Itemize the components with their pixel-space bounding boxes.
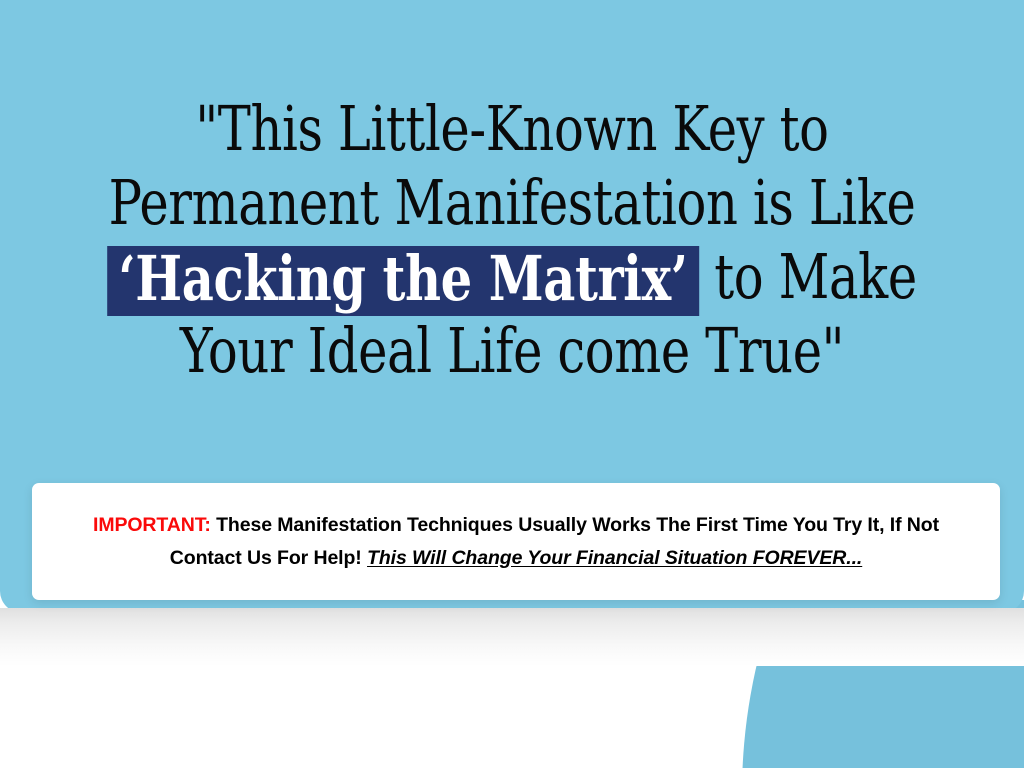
important-label: IMPORTANT: xyxy=(93,514,211,536)
headline-line-3: ‘Hacking the Matrix’ to Make xyxy=(102,240,921,314)
headline-line-3-rest: to Make xyxy=(699,240,917,313)
headline-line-4: Your Ideal Life come True" xyxy=(102,314,921,388)
card-drop-shadow xyxy=(0,608,1024,666)
headline-line-2: Permanent Manifestation is Like xyxy=(102,166,921,240)
notice-text: IMPORTANT: These Manifestation Technique… xyxy=(61,509,971,575)
headline-line-1: "This Little-Known Key to xyxy=(102,92,921,166)
headline-highlight: ‘Hacking the Matrix’ xyxy=(107,246,699,316)
page-headline: "This Little-Known Key to Permanent Mani… xyxy=(102,92,921,388)
notice-card: IMPORTANT: These Manifestation Technique… xyxy=(32,483,1000,600)
landing-page: "This Little-Known Key to Permanent Mani… xyxy=(0,0,1024,768)
notice-emphasis: This Will Change Your Financial Situatio… xyxy=(367,547,862,569)
